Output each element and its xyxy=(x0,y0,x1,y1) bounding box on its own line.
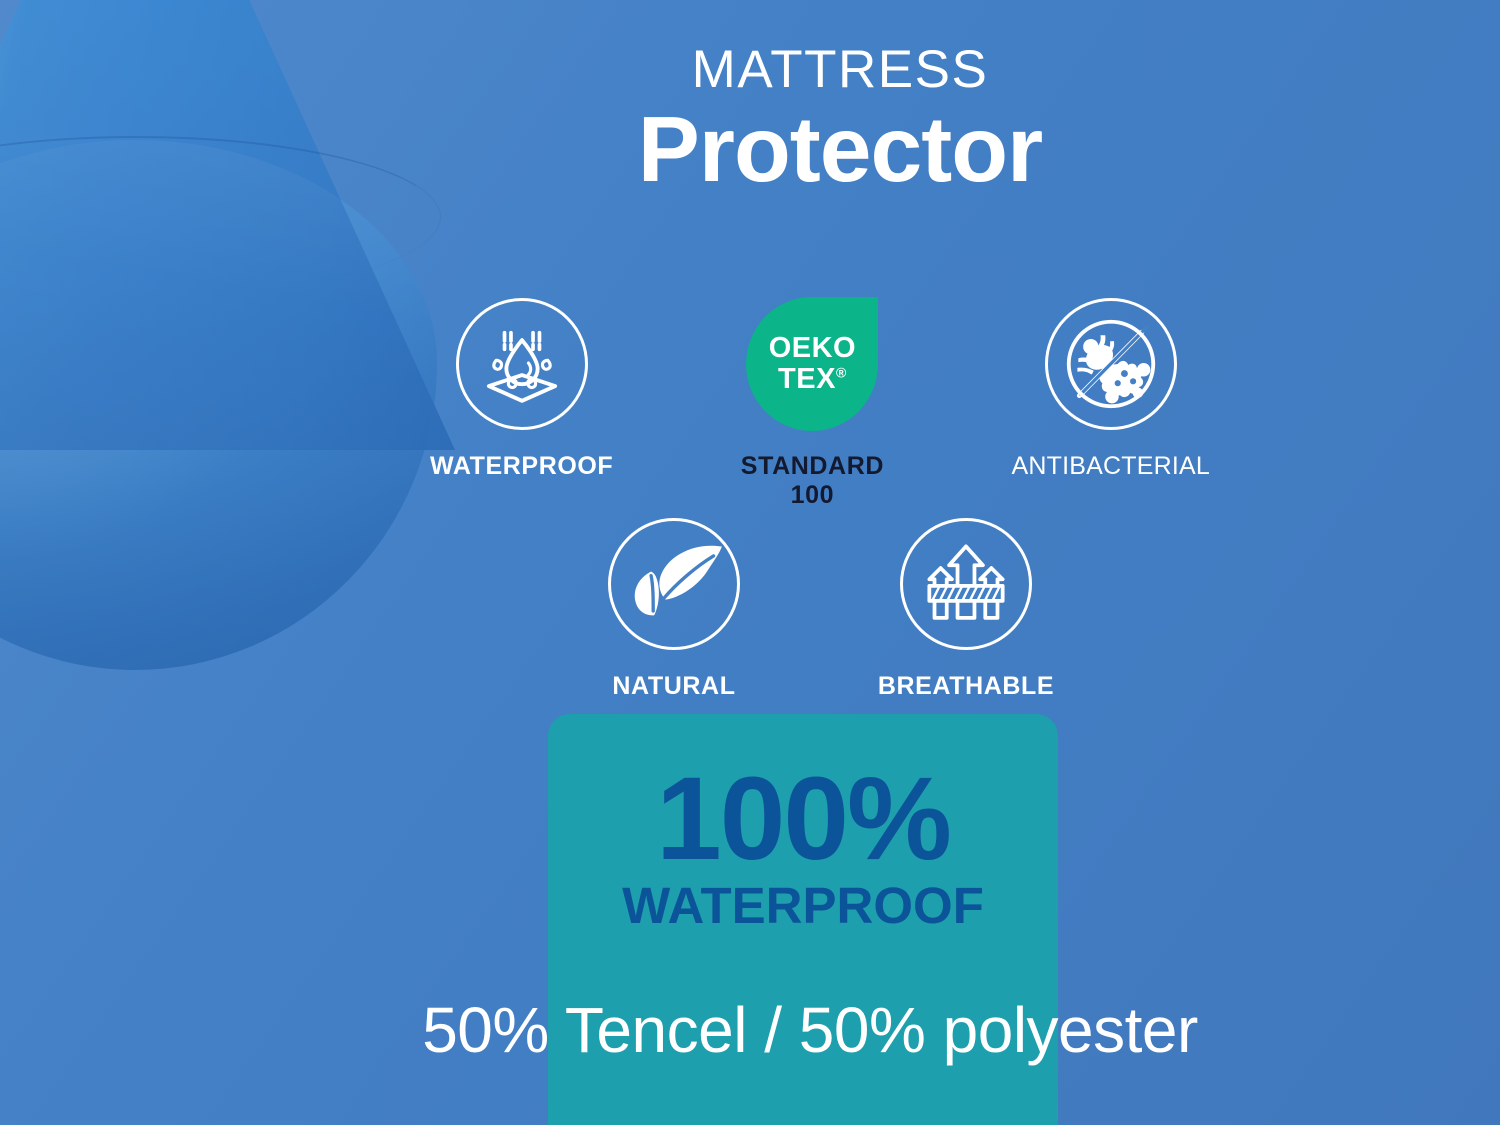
fabric-blend-text: 50% Tencel / 50% polyester xyxy=(340,993,1280,1067)
feature-antibacterial[interactable]: ANTIBACTERIAL xyxy=(1012,298,1210,510)
feature-badges: WATERPROOF OEKO TEX® STANDARD 100 xyxy=(430,298,1210,700)
oeko-badge-tex: TEX xyxy=(778,363,836,395)
registered-mark-icon: ® xyxy=(836,364,847,380)
feature-oeko-tex[interactable]: OEKO TEX® STANDARD 100 xyxy=(721,298,903,510)
waterproof-subtitle: WATERPROOF xyxy=(548,880,1058,931)
feature-label-waterproof: WATERPROOF xyxy=(430,452,613,481)
water-droplet-graphic xyxy=(0,0,455,670)
antibacterial-no-germ-icon xyxy=(1063,316,1159,412)
feature-breathable[interactable]: BREATHABLE xyxy=(860,518,1072,701)
feature-label-breathable: BREATHABLE xyxy=(878,672,1054,701)
breathable-badge-circle xyxy=(900,518,1032,650)
oeko-tex-badge: OEKO TEX® xyxy=(746,298,878,430)
oeko-tex-leaf-icon: OEKO TEX® xyxy=(746,297,878,431)
waterproof-percent: 100% xyxy=(548,760,1058,878)
antibacterial-badge-circle xyxy=(1045,298,1177,430)
waterproof-badge-circle xyxy=(456,298,588,430)
oeko-badge-line-2: TEX® xyxy=(778,364,847,395)
feature-label-natural: NATURAL xyxy=(612,672,735,701)
page-title: Protector xyxy=(480,100,1200,199)
breathable-arrows-icon xyxy=(919,537,1013,631)
headline-kicker: MATTRESS xyxy=(480,42,1200,98)
natural-leaves-icon xyxy=(622,532,726,636)
natural-badge-circle xyxy=(608,518,740,650)
feature-natural[interactable]: NATURAL xyxy=(568,518,780,701)
feature-label-antibacterial: ANTIBACTERIAL xyxy=(1012,452,1210,481)
feature-label-standard-100: STANDARD 100 xyxy=(721,452,903,510)
feature-row-2: NATURAL BREATHABLE xyxy=(430,518,1210,701)
feature-row-1: WATERPROOF OEKO TEX® STANDARD 100 xyxy=(430,298,1210,510)
oeko-badge-line-1: OEKO xyxy=(769,333,856,364)
product-marketing-banner: MATTRESS Protector xyxy=(0,0,1500,1125)
headline-block: MATTRESS Protector xyxy=(480,42,1200,198)
waterproof-highlight-text: 100% WATERPROOF xyxy=(548,760,1058,931)
waterproof-droplet-icon xyxy=(476,318,568,410)
feature-waterproof[interactable]: WATERPROOF xyxy=(430,298,613,510)
